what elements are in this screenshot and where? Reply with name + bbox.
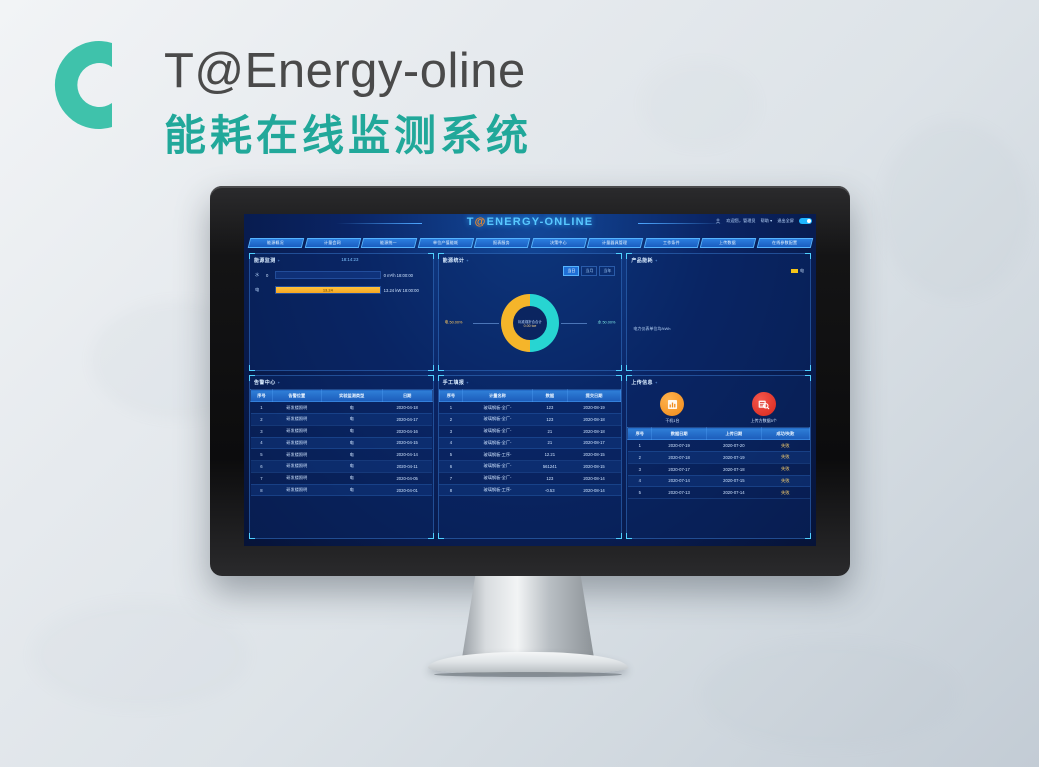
nav-item-2[interactable]: 能源统一 — [361, 238, 417, 248]
help-label[interactable]: 帮助 ▾ — [761, 218, 773, 224]
plus-icon[interactable]: + — [278, 258, 280, 263]
panel-title: 手工填报 — [443, 379, 465, 386]
column-header: 序号 — [251, 390, 273, 402]
fullscreen-label[interactable]: 退出全屏 — [777, 218, 794, 224]
table-cell: 2020-04-15 — [382, 437, 432, 449]
table-row[interactable]: 2玻璃钢板-全厂-1232020-08-18 — [439, 413, 621, 425]
table-cell: 2020-04-16 — [382, 425, 432, 437]
nav-item-6[interactable]: 计量器具管理 — [587, 238, 643, 248]
table-cell: 2020-07-20 — [706, 440, 761, 452]
table-row[interactable]: 6玻璃钢板-全厂-5612412020-08-15 — [439, 461, 621, 473]
column-header: 计量名称 — [463, 390, 533, 402]
table-cell: 电 — [321, 449, 382, 461]
table-cell: 电 — [321, 461, 382, 473]
upload-stat-caption: 干机1台 — [660, 418, 684, 424]
panel-header: 能源统计 + — [439, 254, 622, 264]
main-nav[interactable]: 能源概况计量会网能源统一单位产值能耗报表服务决策中心计量器具管理工作条件上传数据… — [244, 238, 816, 249]
nav-item-label: 单位产值能耗 — [433, 240, 458, 246]
user-icon — [715, 218, 721, 224]
table-cell: 2020-07-14 — [706, 487, 761, 499]
dashboard-topbar: T@ENERGY-ONLINE 欢迎您，管理员 帮助 ▾ 退出全屏 — [244, 214, 816, 238]
table-cell: 4 — [628, 475, 652, 487]
column-header: 日期 — [382, 390, 432, 402]
nav-item-8[interactable]: 上传数据 — [700, 238, 756, 248]
table-cell: 2020-04-11 — [382, 461, 432, 473]
alarm-table: 序号告警位置实验监测类型日期1研发楼照明电2020-04-182研发楼照明电20… — [250, 389, 433, 496]
at-symbol-icon: @ — [475, 216, 487, 228]
table-row[interactable]: 1玻璃钢板-全厂-1232020-08-19 — [439, 402, 621, 414]
table-cell: 12.21 — [532, 449, 567, 461]
column-header: 数据日期 — [652, 428, 707, 440]
table-row[interactable]: 5玻璃钢板-工序-12.212020-08-15 — [439, 449, 621, 461]
table-row[interactable]: 3玻璃钢板-全厂-212020-08-18 — [439, 425, 621, 437]
clock-readout: 18:14:23 — [341, 257, 358, 262]
donut-label-right: 水 50.00% — [598, 321, 616, 326]
monitor-stand-base — [428, 652, 628, 674]
table-cell: 1 — [251, 402, 273, 414]
nav-item-label: 计量器具管理 — [602, 240, 627, 246]
table-cell: -0.53 — [532, 484, 567, 496]
panel-manual-entry: 手工填报 + 序号计量名称数据提交日期1玻璃钢板-全厂-1232020-08-1… — [438, 375, 623, 539]
column-header: 数据 — [532, 390, 567, 402]
legend-label: 电 — [800, 268, 804, 274]
table-cell: 4 — [251, 437, 273, 449]
nav-item-label: 在线参数配置 — [772, 240, 797, 246]
table-cell: 玻璃钢板-全厂- — [463, 413, 533, 425]
table-cell: 失败 — [761, 440, 809, 452]
plus-icon[interactable]: + — [466, 380, 468, 385]
account-label[interactable]: 欢迎您，管理员 — [726, 218, 755, 224]
upload-stat[interactable]: 上传方数据5个 — [751, 392, 777, 424]
table-cell: 玻璃钢板-全厂- — [463, 472, 533, 484]
donut-center-line2: 0.00 tce — [524, 324, 537, 328]
table-cell: 5 — [251, 449, 273, 461]
nav-item-7[interactable]: 工作条件 — [643, 238, 699, 248]
table-cell: 电 — [321, 472, 382, 484]
energy-bar-track: 13.24 — [275, 286, 381, 294]
table-cell: 4 — [439, 437, 462, 449]
table-row[interactable]: 12020-07-192020-07-20失败 — [628, 440, 810, 452]
table-cell: 2020-08-14 — [567, 484, 621, 496]
column-header: 上传日期 — [706, 428, 761, 440]
table-cell: 5 — [439, 449, 462, 461]
donut-ring: 标准煤折合合计 0.00 tce — [501, 294, 559, 352]
dashboard-grid: 能源监测 + 18:14:23 水00 m³/h 18:00:00电13.241… — [244, 249, 816, 544]
plus-icon[interactable]: + — [278, 380, 280, 385]
column-header: 实验监测类型 — [321, 390, 382, 402]
table-cell: 电 — [321, 425, 382, 437]
dashboard-app: T@ENERGY-ONLINE 欢迎您，管理员 帮助 ▾ 退出全屏 能源概况计量… — [244, 214, 816, 546]
panel-header: 上传信息 + — [627, 376, 810, 386]
table-cell: 2020-04-18 — [382, 402, 432, 414]
panel-title: 能源统计 — [443, 257, 465, 264]
column-header: 成功/失败 — [761, 428, 809, 440]
table-cell: 失败 — [761, 487, 809, 499]
table-cell: 玻璃钢板-全厂- — [463, 425, 533, 437]
table-cell: 2020-07-15 — [706, 475, 761, 487]
table-cell: 2 — [439, 413, 462, 425]
table-cell: 2020-07-17 — [652, 463, 707, 475]
table-row[interactable]: 32020-07-172020-07-18失败 — [628, 463, 810, 475]
chart-legend: 电 — [791, 268, 804, 274]
nav-item-9[interactable]: 在线参数配置 — [756, 238, 812, 248]
table-cell: 2020-07-14 — [652, 475, 707, 487]
user-menu[interactable]: 欢迎您，管理员 帮助 ▾ 退出全屏 — [715, 218, 812, 224]
manual-entry-table: 序号计量名称数据提交日期1玻璃钢板-全厂-1232020-08-192玻璃钢板-… — [439, 389, 622, 496]
panel-title: 告警中心 — [254, 379, 276, 386]
energy-unit-readout: 13.24 kW 18:00:00 — [384, 288, 428, 293]
table-cell: 失败 — [761, 475, 809, 487]
table-row[interactable]: 6研发楼照明电2020-04-11 — [251, 461, 433, 473]
legend-swatch — [791, 269, 798, 273]
table-cell: 3 — [628, 463, 652, 475]
table-cell: 6 — [439, 461, 462, 473]
upload-stat-icons: 干机1台 上传方数据5个 — [627, 392, 810, 424]
nav-item-5[interactable]: 决策中心 — [530, 238, 586, 248]
column-header: 序号 — [628, 428, 652, 440]
table-cell: 研发楼照明 — [272, 425, 321, 437]
monitor-screen: T@ENERGY-ONLINE 欢迎您，管理员 帮助 ▾ 退出全屏 能源概况计量… — [244, 214, 816, 546]
table-row[interactable]: 1研发楼照明电2020-04-18 — [251, 402, 433, 414]
energy-type-label: 水 — [255, 272, 263, 278]
period-tab-2[interactable]: 当年 — [599, 266, 615, 276]
table-cell: 玻璃钢板-工序- — [463, 484, 533, 496]
period-tabs[interactable]: 当日当月当年 — [563, 266, 615, 276]
panel-header: 产品能耗 + — [627, 254, 810, 264]
table-cell: 研发楼照明 — [272, 461, 321, 473]
donut-chart: 电 50.00% 标准煤折合合计 0.00 tce 水 50.00% — [439, 280, 622, 366]
table-cell: 2020-08-15 — [567, 461, 621, 473]
table-cell: 研发楼照明 — [272, 402, 321, 414]
panel-energy-stats: 能源统计 + 当日当月当年 电 50.00% 标准煤折合合计 0.00 tce — [438, 253, 623, 371]
panel-header: 告警中心 + — [250, 376, 433, 386]
table-cell: 2020-08-18 — [567, 425, 621, 437]
table-cell: 3 — [439, 425, 462, 437]
plus-icon[interactable]: + — [655, 380, 657, 385]
table-cell: 失败 — [761, 451, 809, 463]
energy-bar-list: 水00 m³/h 18:00:00电13.2413.24 kW 18:00:00 — [250, 271, 433, 294]
doc-search-icon — [752, 392, 776, 416]
brand-title-en: T@Energy-oline — [164, 47, 526, 96]
table-cell: 2020-07-18 — [706, 463, 761, 475]
table-cell: 电 — [321, 437, 382, 449]
table-row[interactable]: 4玻璃钢板-全厂-212020-08-17 — [439, 437, 621, 449]
table-cell: 研发楼照明 — [272, 484, 321, 496]
report-doc-icon — [660, 392, 684, 416]
panel-title: 能源监测 — [254, 257, 276, 264]
donut-center-label: 标准煤折合合计 0.00 tce — [501, 294, 559, 352]
period-tab-1[interactable]: 当月 — [581, 266, 597, 276]
dashboard-title-suffix: ENERGY-ONLINE — [487, 216, 594, 228]
column-header: 序号 — [439, 390, 462, 402]
table-cell: 2020-04-05 — [382, 472, 432, 484]
table-cell: 2020-08-19 — [567, 402, 621, 414]
plus-icon[interactable]: + — [655, 258, 657, 263]
table-row[interactable]: 7玻璃钢板-全厂-1232020-08-14 — [439, 472, 621, 484]
nav-item-4[interactable]: 报表服务 — [474, 238, 530, 248]
table-row[interactable]: 42020-07-142020-07-15失败 — [628, 475, 810, 487]
table-cell: 玻璃钢板-全厂- — [463, 402, 533, 414]
table-cell: 21 — [532, 437, 567, 449]
table-row[interactable]: 8玻璃钢板-工序--0.532020-08-14 — [439, 484, 621, 496]
table-row[interactable]: 7研发楼照明电2020-04-05 — [251, 472, 433, 484]
table-cell: 2 — [251, 413, 273, 425]
dashboard-title-prefix: T — [467, 216, 475, 228]
table-cell: 123 — [532, 402, 567, 414]
energy-bar-value: 13.24 — [323, 288, 333, 293]
period-tab-0[interactable]: 当日 — [563, 266, 579, 276]
nav-item-label: 报表服务 — [493, 240, 510, 246]
table-cell: 2020-07-13 — [652, 487, 707, 499]
donut-label-left: 电 50.00% — [445, 321, 463, 326]
nav-item-1[interactable]: 计量会网 — [304, 238, 360, 248]
nav-item-label: 能源统一 — [380, 240, 397, 246]
table-header-row: 序号数据日期上传日期成功/失败 — [628, 428, 810, 440]
monitor-stand-neck — [462, 576, 594, 658]
nav-item-label: 工作条件 — [663, 240, 680, 246]
table-cell: 1 — [439, 402, 462, 414]
panel-energy-monitor: 能源监测 + 18:14:23 水00 m³/h 18:00:00电13.241… — [249, 253, 434, 371]
table-cell: 研发楼照明 — [272, 472, 321, 484]
table-cell: 2020-07-19 — [706, 451, 761, 463]
monitor-mockup: T@ENERGY-ONLINE 欢迎您，管理员 帮助 ▾ 退出全屏 能源概况计量… — [210, 186, 850, 576]
c-arc-logo-icon — [52, 37, 118, 133]
table-cell: 玻璃钢板-工序- — [463, 449, 533, 461]
table-cell: 123 — [532, 472, 567, 484]
table-row[interactable]: 2研发楼照明电2020-04-17 — [251, 413, 433, 425]
table-cell: 21 — [532, 425, 567, 437]
upload-stat-caption: 上传方数据5个 — [751, 418, 777, 424]
table-cell: 1 — [628, 440, 652, 452]
energy-value: 0 — [266, 273, 272, 278]
panel-upload-info: 上传信息 + 干机1台 — [626, 375, 811, 539]
table-row[interactable]: 22020-07-182020-07-19失败 — [628, 451, 810, 463]
energy-bar-fill: 13.24 — [276, 287, 380, 293]
table-cell: 7 — [251, 472, 273, 484]
donut-leader-left — [473, 323, 499, 324]
page-header: T@Energy-oline 能耗在线监测系统 — [52, 25, 612, 155]
column-header: 提交日期 — [567, 390, 621, 402]
panel-title: 上传信息 — [631, 379, 653, 386]
table-cell: 7 — [439, 472, 462, 484]
upload-stat[interactable]: 干机1台 — [660, 392, 684, 424]
upload-table: 序号数据日期上传日期成功/失败12020-07-192020-07-20失败22… — [627, 427, 810, 499]
table-cell: 研发楼照明 — [272, 437, 321, 449]
table-row[interactable]: 3研发楼照明电2020-04-16 — [251, 425, 433, 437]
nav-item-label: 能源概况 — [267, 240, 284, 246]
nav-item-label: 决策中心 — [550, 240, 567, 246]
nav-item-0[interactable]: 能源概况 — [248, 238, 304, 248]
donut-leader-right — [561, 323, 587, 324]
panel-header: 手工填报 + — [439, 376, 622, 386]
table-cell: 电 — [321, 402, 382, 414]
table-row[interactable]: 5研发楼照明电2020-04-14 — [251, 449, 433, 461]
table-cell: 2020-08-15 — [567, 449, 621, 461]
table-header-row: 序号告警位置实验监测类型日期 — [251, 390, 433, 402]
nav-item-3[interactable]: 单位产值能耗 — [417, 238, 473, 248]
table-cell: 2020-08-18 — [567, 413, 621, 425]
axis-note: 电力仪表单位均/kWh — [633, 326, 670, 332]
panel-title: 产品能耗 — [631, 257, 653, 264]
panel-alarm-center: 告警中心 + 序号告警位置实验监测类型日期1研发楼照明电2020-04-182研… — [249, 375, 434, 539]
table-cell: 2 — [628, 451, 652, 463]
table-header-row: 序号计量名称数据提交日期 — [439, 390, 621, 402]
table-cell: 研发楼照明 — [272, 449, 321, 461]
table-row[interactable]: 8研发楼照明电2020-04-01 — [251, 484, 433, 496]
table-cell: 2020-07-19 — [652, 440, 707, 452]
table-cell: 电 — [321, 484, 382, 496]
table-cell: 8 — [439, 484, 462, 496]
table-cell: 123 — [532, 413, 567, 425]
table-row[interactable]: 4研发楼照明电2020-04-15 — [251, 437, 433, 449]
energy-bar-row: 水00 m³/h 18:00:00 — [250, 271, 433, 279]
plus-icon[interactable]: + — [466, 258, 468, 263]
table-cell: 2020-04-01 — [382, 484, 432, 496]
table-cell: 电 — [321, 413, 382, 425]
table-cell: 3 — [251, 425, 273, 437]
energy-unit-readout: 0 m³/h 18:00:00 — [384, 273, 428, 278]
table-cell: 2020-08-17 — [567, 437, 621, 449]
brand-title-cn: 能耗在线监测系统 — [164, 115, 532, 157]
table-cell: 8 — [251, 484, 273, 496]
nav-item-label: 上传数据 — [719, 240, 736, 246]
table-cell: 玻璃钢板-全厂- — [463, 437, 533, 449]
table-cell: 2020-07-18 — [652, 451, 707, 463]
table-cell: 6 — [251, 461, 273, 473]
energy-type-label: 电 — [255, 287, 263, 293]
energy-bar-row: 电13.2413.24 kW 18:00:00 — [250, 286, 433, 294]
table-cell: 2020-04-14 — [382, 449, 432, 461]
column-header: 告警位置 — [272, 390, 321, 402]
table-cell: 2020-08-14 — [567, 472, 621, 484]
table-cell: 2020-04-17 — [382, 413, 432, 425]
energy-bar-track — [275, 271, 381, 279]
table-cell: 561241 — [532, 461, 567, 473]
panel-product-energy: 产品能耗 + 电 电力仪表单位均/kWh — [626, 253, 811, 371]
table-row[interactable]: 52020-07-132020-07-14失败 — [628, 487, 810, 499]
nav-item-label: 计量会网 — [324, 240, 341, 246]
toggle-switch-icon[interactable] — [799, 218, 812, 224]
table-cell: 研发楼照明 — [272, 413, 321, 425]
table-cell: 5 — [628, 487, 652, 499]
table-cell: 失败 — [761, 463, 809, 475]
table-cell: 玻璃钢板-全厂- — [463, 461, 533, 473]
